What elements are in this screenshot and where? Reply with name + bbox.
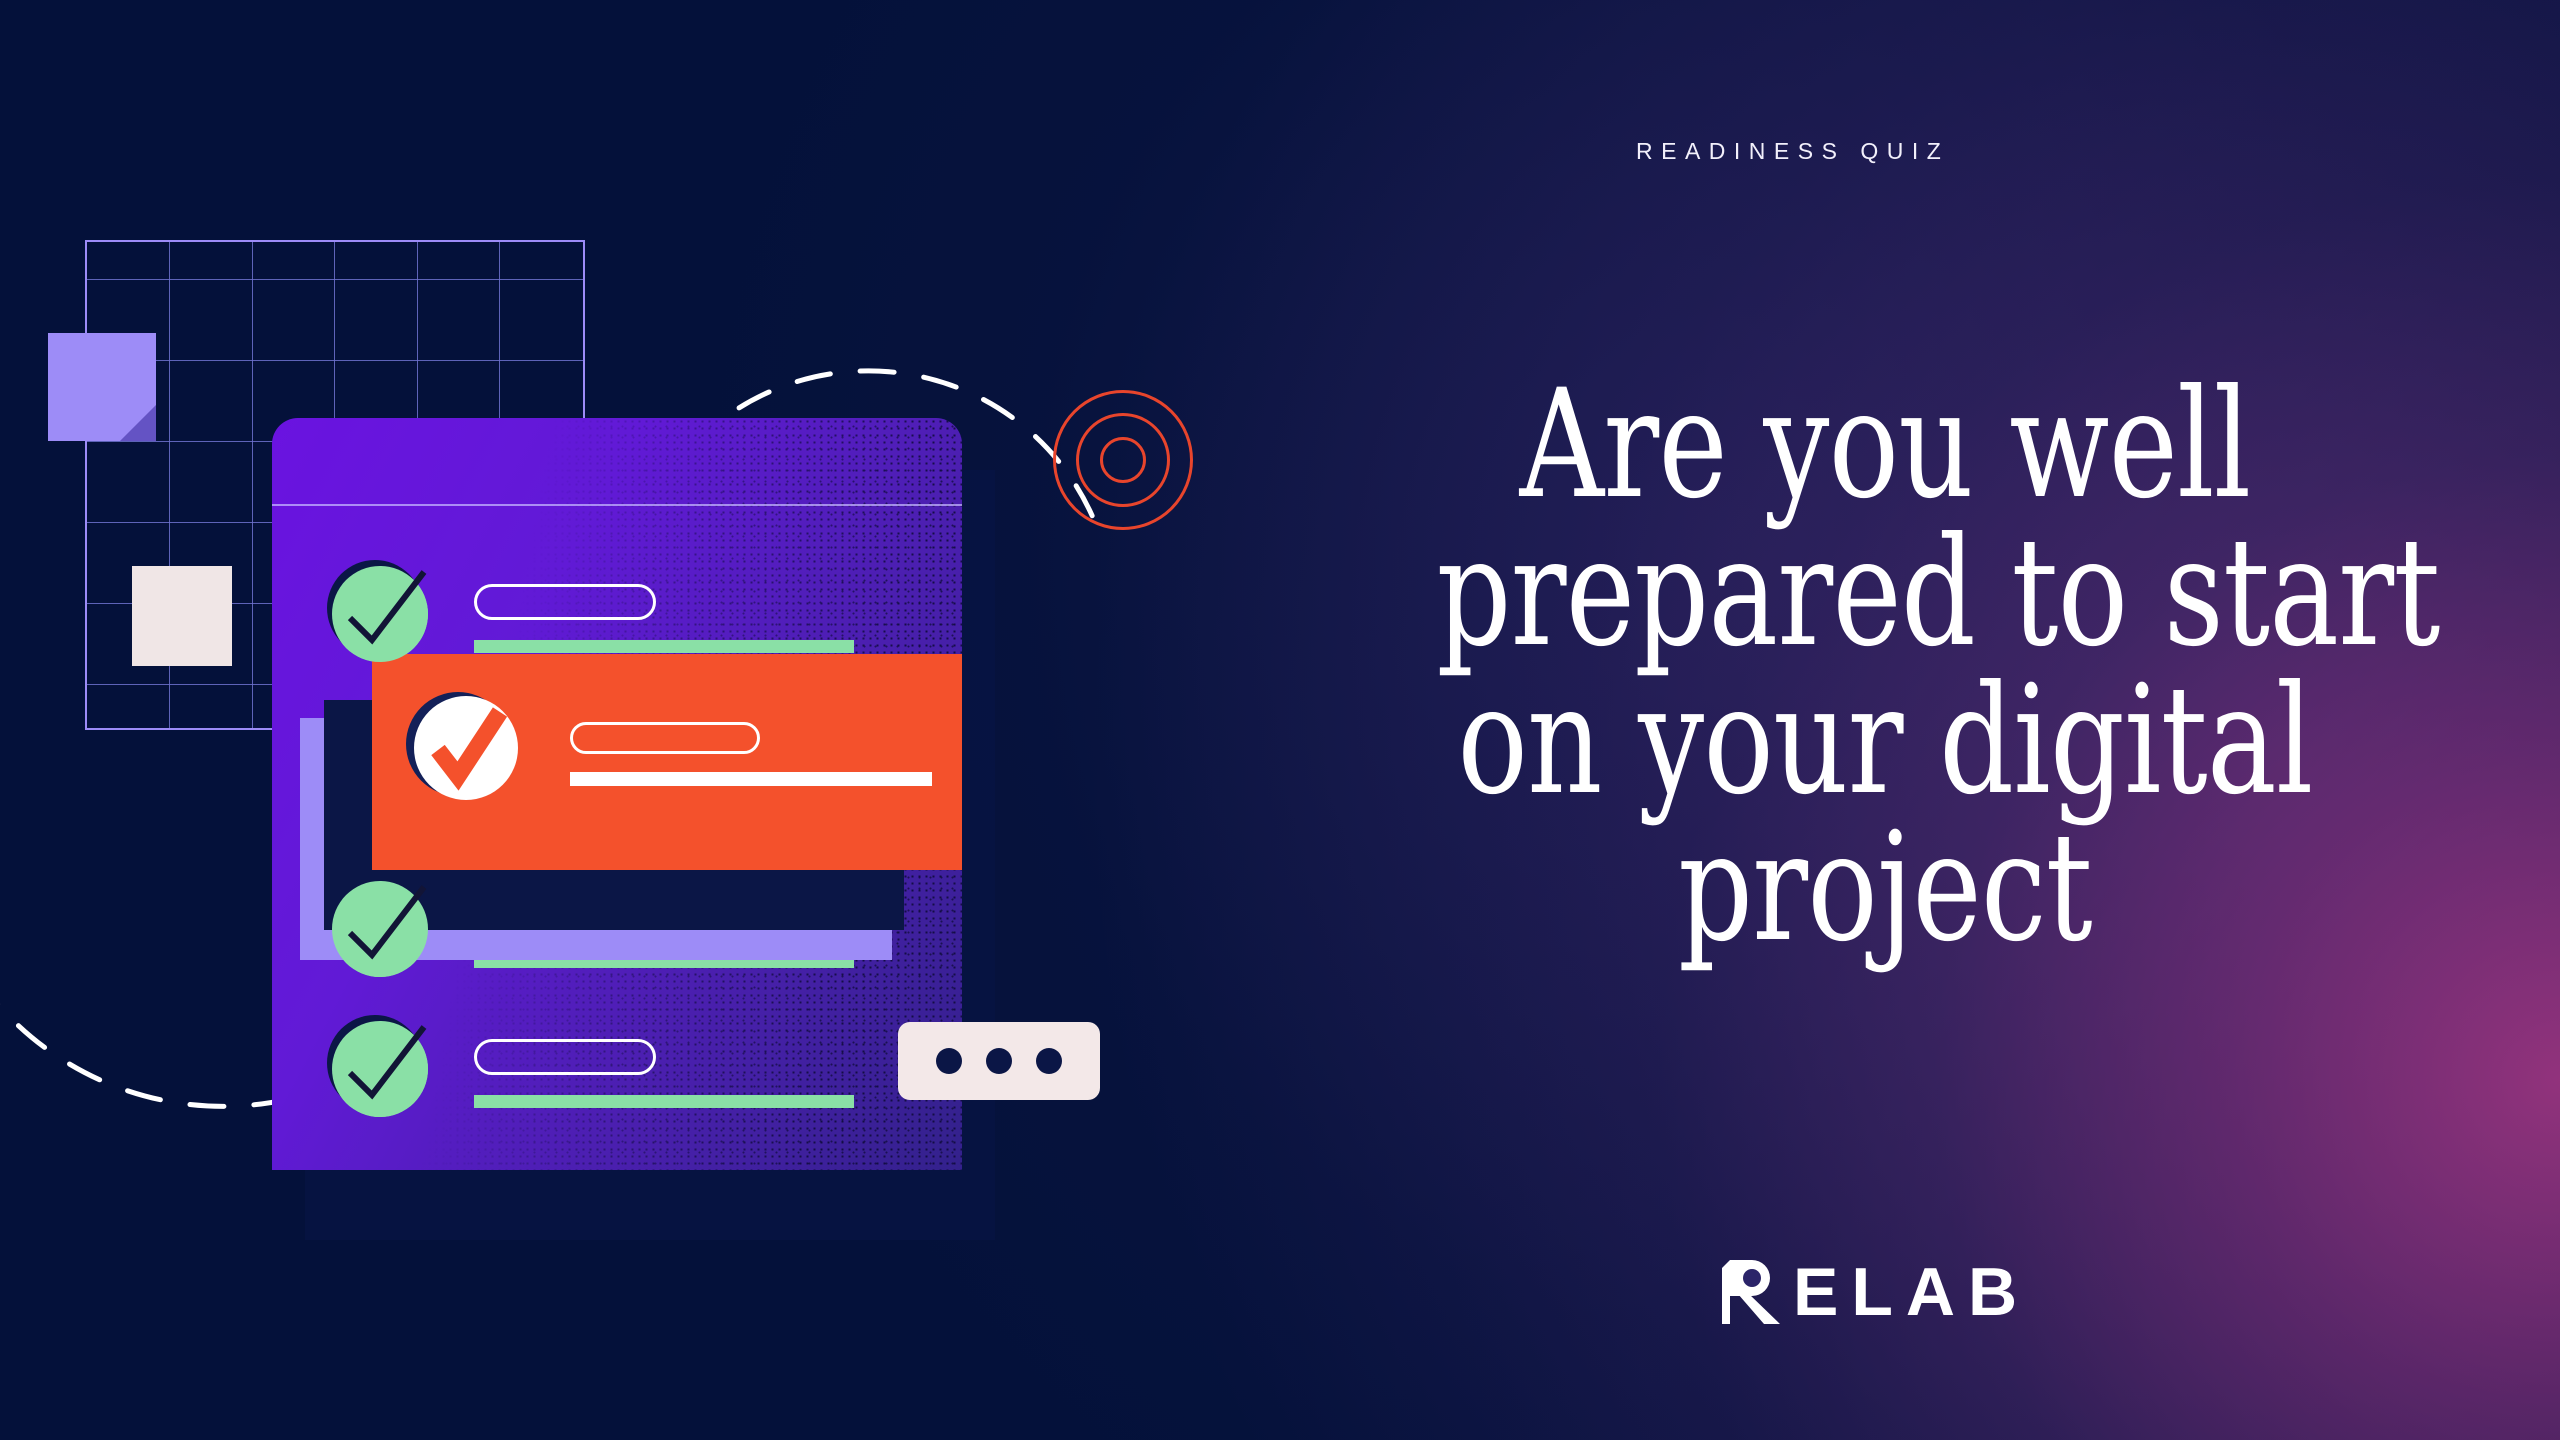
eyebrow-label: READINESS QUIZ xyxy=(1636,138,1949,165)
checklist-illustration xyxy=(0,0,1140,1440)
check-icon xyxy=(332,881,428,977)
typing-dot xyxy=(1036,1048,1062,1074)
relab-logo[interactable]: ELAB xyxy=(1722,1258,2030,1326)
list-item-label-placeholder xyxy=(474,584,656,620)
list-item-text-placeholder xyxy=(474,640,854,653)
list-item[interactable] xyxy=(332,1013,932,1133)
headline-line-4: project xyxy=(1437,815,2334,963)
headline-line-2: prepared to start xyxy=(1437,520,2334,668)
highlight-text-placeholder xyxy=(570,772,932,786)
typing-bubble xyxy=(898,1022,1100,1100)
list-item-highlighted[interactable] xyxy=(372,654,962,870)
check-icon xyxy=(332,1021,428,1117)
logo-wordmark-text: ELAB xyxy=(1793,1258,2030,1326)
list-item-label-placeholder xyxy=(474,1039,656,1075)
card-titlebar-divider xyxy=(272,504,962,506)
typing-dot xyxy=(986,1048,1012,1074)
headline-line-1: Are you well xyxy=(1437,372,2334,520)
logo-r-glyph xyxy=(1722,1260,1780,1324)
highlight-label-placeholder xyxy=(570,722,760,754)
list-item-text-placeholder xyxy=(474,1095,854,1108)
typing-dot xyxy=(936,1048,962,1074)
page-title: Are you well prepared to start on your d… xyxy=(1437,372,2334,963)
check-circle-filled-icon xyxy=(414,696,518,800)
headline-line-3: on your digital xyxy=(1437,668,2334,816)
check-icon xyxy=(332,566,428,662)
